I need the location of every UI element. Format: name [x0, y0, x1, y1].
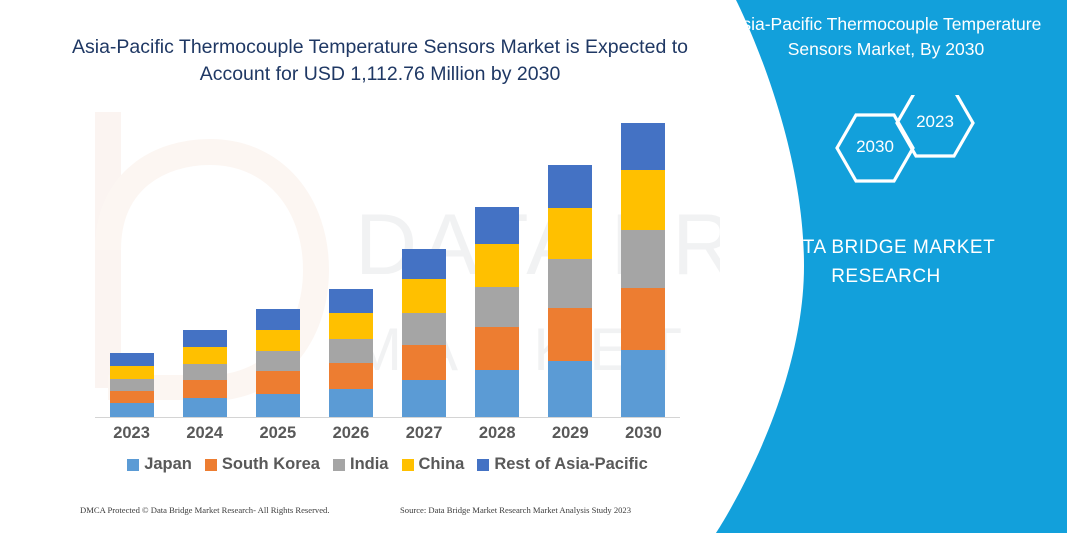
bar-segment: [183, 330, 227, 347]
x-axis-tick-label: 2027: [388, 424, 461, 443]
legend-item[interactable]: India: [333, 455, 389, 474]
bar-segment: [548, 208, 592, 259]
footer-copyright: DMCA Protected © Data Bridge Market Rese…: [80, 505, 330, 515]
bar-segment: [329, 313, 373, 338]
bar-slot: [314, 100, 387, 417]
x-axis-line: [95, 417, 680, 418]
bar-segment: [183, 380, 227, 398]
stacked-bar[interactable]: [475, 207, 519, 417]
bar-segment: [183, 364, 227, 380]
bar-segment: [183, 398, 227, 417]
stacked-bar[interactable]: [402, 249, 446, 418]
chart-legend: JapanSouth KoreaIndiaChinaRest of Asia-P…: [95, 455, 680, 474]
legend-swatch-icon: [333, 459, 345, 471]
x-axis-tick-label: 2026: [314, 424, 387, 443]
x-axis-tick-label: 2025: [241, 424, 314, 443]
bar-slot: [461, 100, 534, 417]
brand-name: DATA BRIDGE MARKET RESEARCH: [736, 234, 1036, 291]
bar-segment: [621, 230, 665, 287]
legend-swatch-icon: [127, 459, 139, 471]
bar-segment: [183, 347, 227, 364]
bar-segment: [329, 389, 373, 417]
bar-segment: [110, 379, 154, 391]
bar-slot: [168, 100, 241, 417]
legend-item[interactable]: Japan: [127, 455, 192, 474]
bar-slot: [95, 100, 168, 417]
stacked-bar[interactable]: [548, 165, 592, 417]
bar-segment: [256, 351, 300, 371]
infographic-root: DATA BRIDGE MARKET RESEARCH Asia-Pacific…: [0, 0, 1067, 533]
bar-segment: [110, 366, 154, 379]
legend-label: India: [350, 455, 389, 474]
bar-segment: [475, 207, 519, 244]
bar-segment: [475, 370, 519, 417]
bar-segment: [402, 345, 446, 380]
bar-slot: [241, 100, 314, 417]
legend-swatch-icon: [477, 459, 489, 471]
bar-slot: [534, 100, 607, 417]
bar-segment: [475, 244, 519, 286]
bar-segment: [256, 309, 300, 330]
bar-segment: [548, 361, 592, 417]
stacked-bar[interactable]: [110, 353, 154, 417]
legend-label: South Korea: [222, 455, 320, 474]
chart-title: Asia-Pacific Thermocouple Temperature Se…: [60, 34, 700, 88]
bar-series-container: [95, 100, 680, 417]
footer: DMCA Protected © Data Bridge Market Rese…: [0, 505, 700, 525]
legend-swatch-icon: [205, 459, 217, 471]
bar-segment: [621, 123, 665, 170]
bar-segment: [548, 259, 592, 308]
legend-label: China: [419, 455, 465, 474]
bar-segment: [548, 165, 592, 208]
legend-label: Rest of Asia-Pacific: [494, 455, 647, 474]
bar-segment: [475, 327, 519, 370]
bar-slot: [607, 100, 680, 417]
stacked-bar[interactable]: [621, 123, 665, 417]
brand-line-1: DATA BRIDGE MARKET: [736, 234, 1036, 263]
hexagon-label-2023: 2023: [895, 112, 975, 132]
legend-item[interactable]: South Korea: [205, 455, 320, 474]
bar-segment: [329, 289, 373, 313]
bar-segment: [402, 380, 446, 417]
stacked-bar-chart: [95, 100, 680, 418]
x-axis-tick-label: 2024: [168, 424, 241, 443]
bar-segment: [621, 350, 665, 417]
legend-item[interactable]: Rest of Asia-Pacific: [477, 455, 647, 474]
bar-segment: [475, 287, 519, 327]
stacked-bar[interactable]: [329, 289, 373, 417]
footer-source: Source: Data Bridge Market Research Mark…: [400, 505, 631, 515]
brand-panel-title: Asia-Pacific Thermocouple Temperature Se…: [716, 12, 1056, 62]
x-axis-tick-label: 2023: [95, 424, 168, 443]
bar-segment: [110, 403, 154, 417]
x-axis-tick-label: 2028: [461, 424, 534, 443]
bar-segment: [256, 330, 300, 351]
bar-segment: [548, 308, 592, 361]
hexagon-group: 2030 2023: [806, 95, 1046, 225]
bar-segment: [402, 279, 446, 313]
x-axis-labels: 20232024202520262027202820292030: [95, 424, 680, 443]
bar-segment: [621, 170, 665, 230]
stacked-bar[interactable]: [256, 309, 300, 417]
brand-line-2: RESEARCH: [736, 263, 1036, 292]
legend-label: Japan: [144, 455, 192, 474]
bar-segment: [329, 363, 373, 390]
bar-slot: [388, 100, 461, 417]
bar-segment: [110, 353, 154, 366]
bar-segment: [621, 288, 665, 351]
stacked-bar[interactable]: [183, 330, 227, 417]
bar-segment: [329, 339, 373, 363]
hexagon-label-2030: 2030: [835, 137, 915, 157]
x-axis-tick-label: 2030: [607, 424, 680, 443]
x-axis-tick-label: 2029: [534, 424, 607, 443]
brand-panel: Asia-Pacific Thermocouple Temperature Se…: [676, 0, 1067, 533]
bar-segment: [110, 391, 154, 404]
bar-segment: [256, 371, 300, 393]
legend-item[interactable]: China: [402, 455, 465, 474]
bar-segment: [256, 394, 300, 417]
bar-segment: [402, 249, 446, 280]
legend-swatch-icon: [402, 459, 414, 471]
chart-panel: DATA BRIDGE MARKET RESEARCH Asia-Pacific…: [0, 0, 720, 533]
bar-segment: [402, 313, 446, 345]
